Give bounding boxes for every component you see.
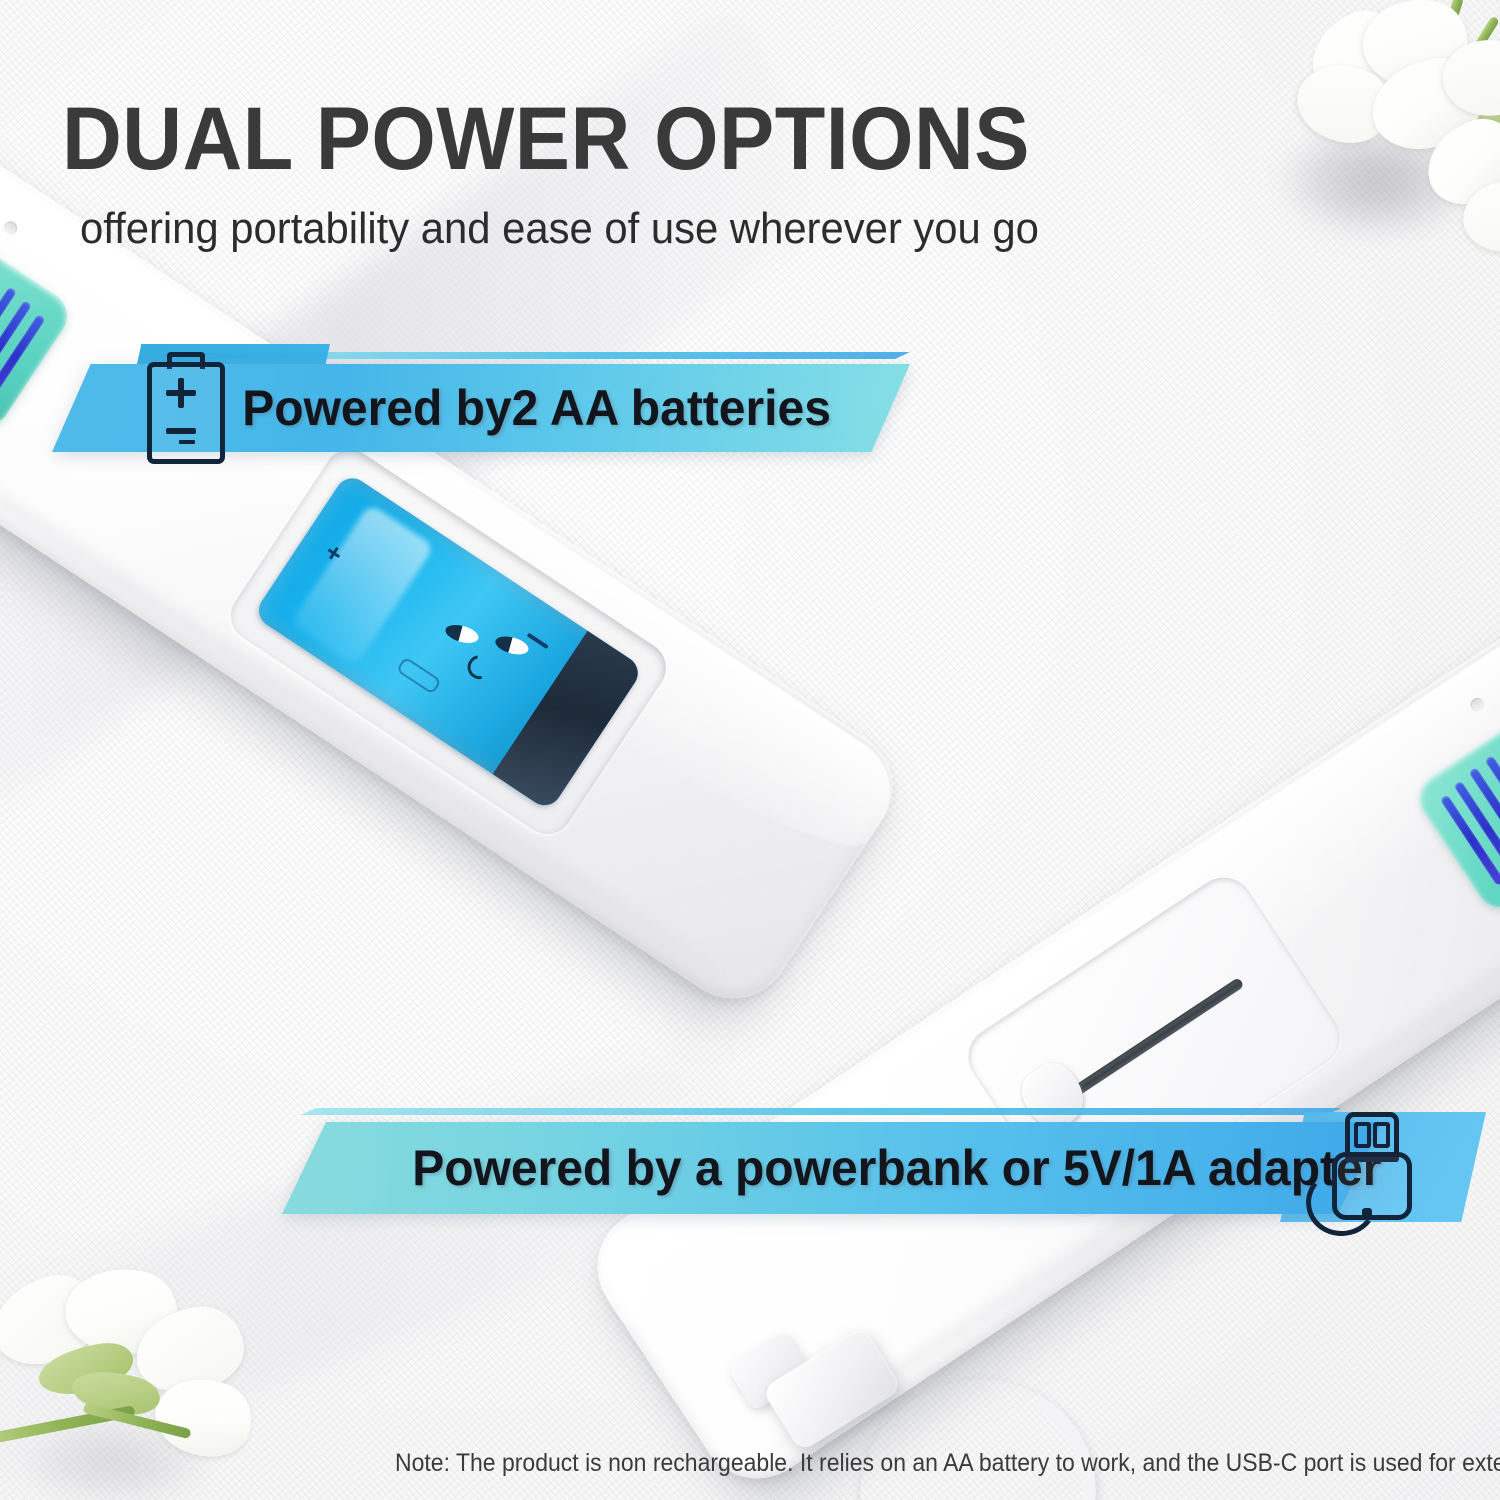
usb-icon-contact <box>1373 1122 1390 1148</box>
battery-banner-label: Powered by2 AA batteries <box>242 379 831 437</box>
disclaimer-note: Note: The product is non rechargeable. I… <box>395 1449 1500 1478</box>
battery-gloss <box>290 503 435 667</box>
battery-face-mouth <box>463 651 496 684</box>
battery-face-eye <box>443 622 480 647</box>
powerbank-banner-label: Powered by a powerbank or 5V/1A adapter <box>412 1139 1381 1197</box>
product-feature-image: + <box>0 0 1500 1500</box>
screw-dimple <box>2 219 20 237</box>
battery-label-mark <box>396 656 442 694</box>
vent-slot <box>0 274 2 377</box>
usb-plug-icon <box>1318 1112 1424 1224</box>
uv-vent-pad <box>1410 689 1500 917</box>
screw-dimple <box>1468 696 1486 714</box>
battery-icon <box>133 352 229 456</box>
battery-icon-tick <box>179 440 195 444</box>
powerbank-banner-body: Powered by a powerbank or 5V/1A adapter <box>282 1122 1382 1214</box>
page-title: DUAL POWER OPTIONS <box>62 94 1206 183</box>
battery-icon-plus <box>166 390 196 396</box>
flower-decoration-top-right <box>1268 0 1500 300</box>
battery-negative-cap <box>493 631 644 812</box>
battery-face-eye <box>493 633 530 658</box>
battery-minus-label <box>527 633 549 650</box>
usb-icon-contact <box>1354 1122 1371 1148</box>
page-subtitle: offering portability and ease of use whe… <box>80 205 1306 253</box>
battery-icon-body <box>147 362 225 464</box>
banner-accent-line <box>300 1108 1342 1115</box>
flower-decoration-bottom-left <box>0 1268 256 1500</box>
battery-icon-minus <box>166 428 196 434</box>
